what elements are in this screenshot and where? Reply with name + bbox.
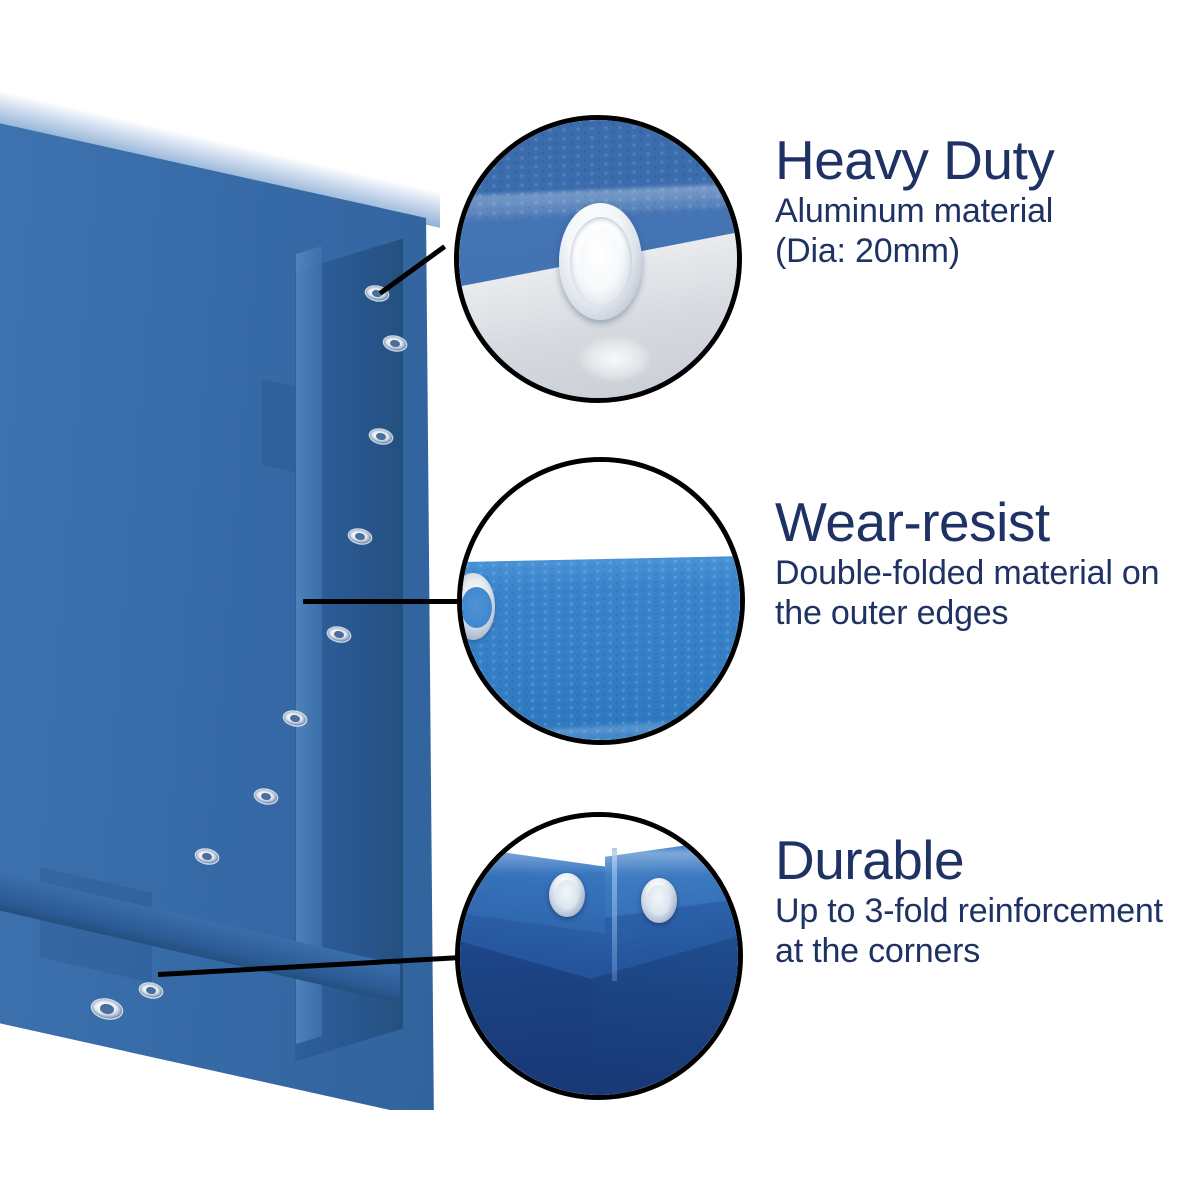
feature-title-durable: Durable bbox=[775, 832, 1200, 888]
feature-text-heavy-duty: Heavy Duty Aluminum material (Dia: 20mm) bbox=[775, 132, 1195, 271]
callout-circle-durable bbox=[455, 812, 743, 1100]
grommet-icon bbox=[641, 878, 677, 922]
main-product-image bbox=[0, 0, 470, 1110]
feature-desc-line1-durable: Up to 3-fold reinforcement bbox=[775, 892, 1200, 931]
fabric-texture bbox=[462, 556, 740, 740]
feature-desc-line2-wear-resist: the outer edges bbox=[775, 594, 1200, 633]
feature-desc-line1-wear-resist: Double-folded material on bbox=[775, 554, 1200, 593]
aluminum-grommet-icon bbox=[559, 203, 642, 320]
feature-desc-line1-heavy-duty: Aluminum material bbox=[775, 192, 1195, 231]
callout-circle-wear-resist bbox=[457, 457, 745, 745]
callout-circle-heavy-duty bbox=[454, 115, 742, 403]
double-folded-material bbox=[462, 556, 740, 740]
product-feature-infographic: Heavy Duty Aluminum material (Dia: 20mm)… bbox=[0, 0, 1200, 1200]
feature-text-wear-resist: Wear-resist Double-folded material on th… bbox=[775, 494, 1200, 633]
feature-text-durable: Durable Up to 3-fold reinforcement at th… bbox=[775, 832, 1200, 971]
feature-title-heavy-duty: Heavy Duty bbox=[775, 132, 1195, 188]
leader-line-wear-resist bbox=[303, 599, 463, 604]
feature-desc-line2-heavy-duty: (Dia: 20mm) bbox=[775, 232, 1195, 271]
tarp-edge-highlight bbox=[296, 246, 322, 1044]
grommet-icon bbox=[549, 873, 585, 917]
grommet-reflection bbox=[579, 337, 651, 381]
feature-title-wear-resist: Wear-resist bbox=[775, 494, 1200, 550]
corner-top-sheen bbox=[477, 850, 727, 875]
feature-desc-line2-durable: at the corners bbox=[775, 932, 1200, 971]
